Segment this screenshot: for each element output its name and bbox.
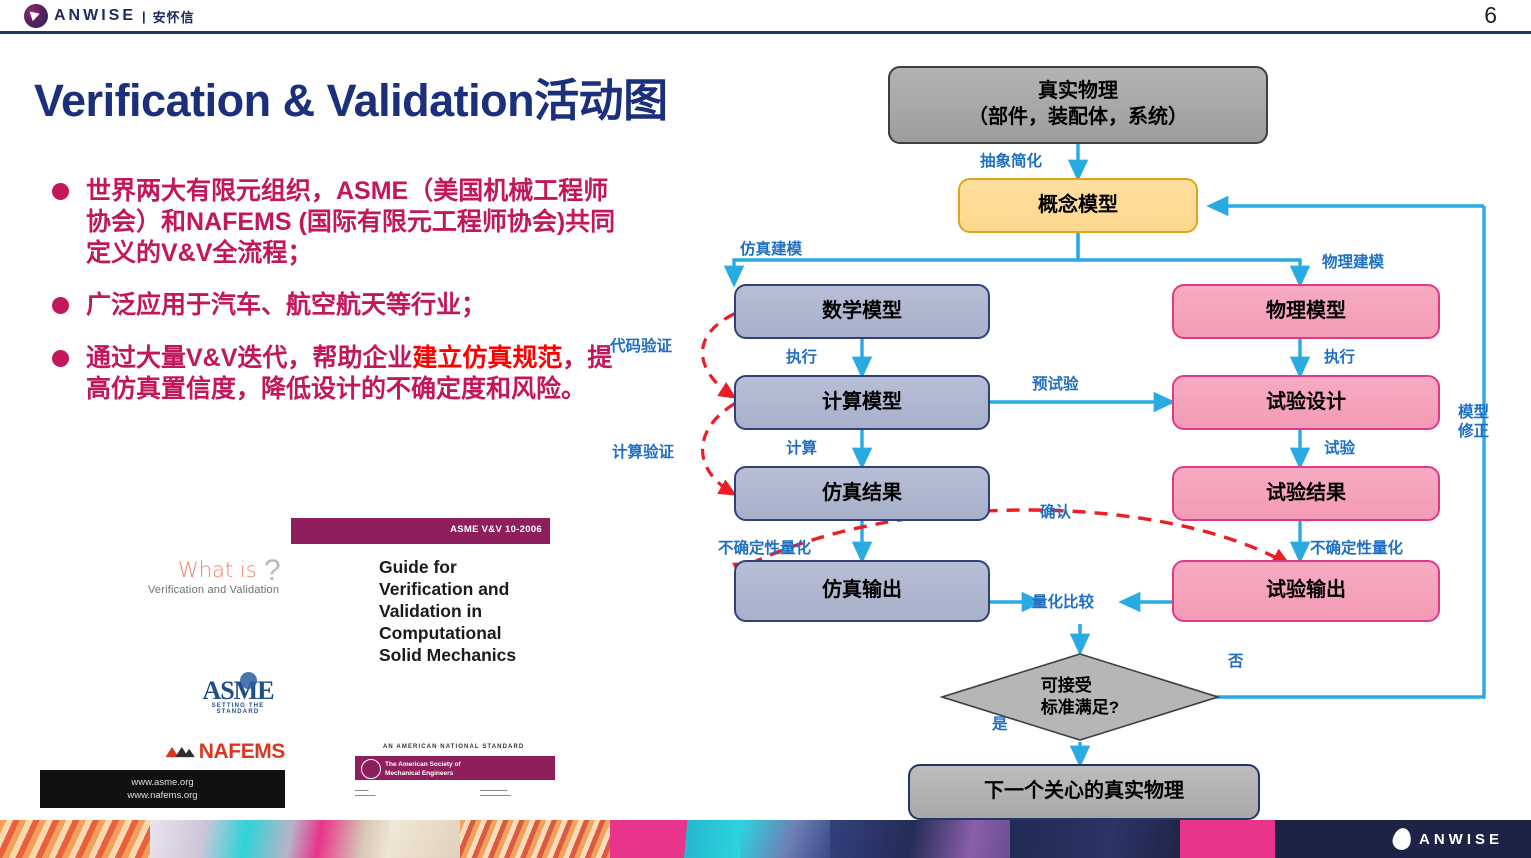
list-item: 广泛应用于汽车、航空航天等行业； — [52, 290, 622, 321]
anwise-footer-logo-icon — [1391, 826, 1413, 851]
edge-label-phys-modeling: 物理建模 — [1322, 250, 1384, 272]
nafems-logo: NAFEMS — [165, 737, 285, 767]
decision-label: 可接受 标准满足? — [940, 652, 1220, 742]
url-text: www.asme.org www.nafems.org — [40, 770, 285, 803]
edge-label-execute-right: 执行 — [1324, 345, 1355, 367]
edge-label-validate: 确认 — [1040, 500, 1071, 522]
footer-pattern-9 — [1180, 820, 1275, 858]
bullet-text: 世界两大有限元组织，ASME（美国机械工程师协会）和NAFEMS (国际有限元工… — [86, 176, 622, 268]
node-compute-model[interactable]: 计算模型 — [734, 375, 990, 430]
bullet-dot-icon — [52, 183, 69, 200]
node-test-result[interactable]: 试验结果 — [1172, 466, 1440, 521]
bullet-text: 通过大量V&V迭代，帮助企业建立仿真规范，提高仿真置信度，降低设计的不确定度和风… — [86, 343, 622, 405]
bullet-list: 世界两大有限元组织，ASME（美国机械工程师协会）和NAFEMS (国际有限元工… — [52, 176, 622, 427]
slide-canvas: ANWISE | 安怀信 6 Verification & Validation… — [0, 0, 1531, 858]
what-is-vv-graphic: What is ? Verification and Validation — [148, 558, 288, 602]
nafems-wordmark: NAFEMS — [199, 740, 285, 764]
anwise-logo: ANWISE | 安怀信 — [24, 4, 195, 28]
edge-label-quant-compare: 量化比较 — [1032, 590, 1094, 612]
brand-separator: | — [142, 9, 147, 24]
edge-label-calculate: 计算 — [786, 436, 817, 458]
edge-label-uq-right: 不确定性量化 — [1310, 536, 1403, 558]
edge-label-pretest: 预试验 — [1032, 372, 1079, 394]
list-item: 世界两大有限元组织，ASME（美国机械工程师协会）和NAFEMS (国际有限元工… — [52, 176, 622, 268]
node-sim-output[interactable]: 仿真输出 — [734, 560, 990, 622]
nafems-triangle-icon — [165, 739, 196, 765]
footer-brand-text: ANWISE — [1419, 831, 1503, 848]
anwise-logo-icon — [24, 4, 48, 28]
what-is-label: What is — [178, 558, 257, 582]
footer-pattern-6 — [740, 820, 830, 858]
slide-header: ANWISE | 安怀信 6 — [0, 0, 1531, 32]
footer-pattern-2 — [150, 820, 390, 858]
edge-label-execute-left: 执行 — [786, 345, 817, 367]
book-band: ASME V&V 10-2006 — [291, 518, 550, 544]
what-is-subtitle: Verification and Validation — [148, 584, 279, 596]
node-test-output[interactable]: 试验输出 — [1172, 560, 1440, 622]
ansi-footnote-left: ▬▬▬▬▬▬▬▬▬▬ — [355, 788, 375, 798]
edge-label-abstraction: 抽象简化 — [980, 149, 1042, 171]
bullet-dot-icon — [52, 350, 69, 367]
list-item: 通过大量V&V迭代，帮助企业建立仿真规范，提高仿真置信度，降低设计的不确定度和风… — [52, 343, 622, 405]
node-conceptual-model[interactable]: 概念模型 — [958, 178, 1198, 233]
book-title: Guide for Verification and Validation in… — [379, 556, 516, 666]
footer-pattern-5 — [610, 820, 740, 858]
node-next-physics[interactable]: 下一个关心的真实物理 — [908, 764, 1260, 820]
edge-label-model-update: 模型 修正 — [1458, 404, 1489, 441]
asme-wordmark: ASME — [196, 676, 280, 706]
asme-logo: ASME SETTING THE STANDARD — [196, 676, 280, 712]
edge-label-code-verification: 代码验证 — [610, 334, 672, 356]
edge-label-sim-modeling: 仿真建模 — [740, 237, 802, 259]
edge-label-uq-left: 不确定性量化 — [718, 536, 811, 558]
edge-label-test: 试验 — [1324, 436, 1355, 458]
brand-chinese: 安怀信 — [153, 7, 195, 26]
question-mark-icon: ? — [264, 554, 281, 588]
bullet-dot-icon — [52, 297, 69, 314]
header-divider — [0, 31, 1531, 34]
footer-pattern-4 — [460, 820, 610, 858]
node-physical-model[interactable]: 物理模型 — [1172, 284, 1440, 339]
url-bar: www.asme.org www.nafems.org — [40, 770, 285, 808]
node-decision[interactable]: 可接受 标准满足? — [940, 652, 1220, 742]
footer-brand: ANWISE — [1393, 828, 1503, 850]
page-number: 6 — [1484, 2, 1497, 29]
asme-society-name: The American Society of Mechanical Engin… — [385, 760, 461, 779]
ansi-header: AN AMERICAN NATIONAL STANDARD — [383, 744, 524, 750]
node-test-design[interactable]: 试验设计 — [1172, 375, 1440, 430]
vv-activity-flowchart: 真实物理 （部件，装配体，系统） 概念模型 数学模型 物理模型 计算模型 试验设… — [600, 52, 1531, 812]
brand-latin: ANWISE — [54, 7, 136, 25]
footer-pattern-1 — [0, 820, 150, 858]
node-math-model[interactable]: 数学模型 — [734, 284, 990, 339]
edge-label-calc-verification: 计算验证 — [612, 440, 674, 462]
bullet-highlight: 建立仿真规范 — [412, 344, 562, 372]
footer-pattern-8 — [1010, 820, 1180, 858]
edge-label-no: 否 — [1228, 649, 1244, 671]
ansi-standard-doc: AN AMERICAN NATIONAL STANDARD The Americ… — [355, 742, 555, 808]
node-real-physics[interactable]: 真实物理 （部件，装配体，系统） — [888, 66, 1268, 144]
asme-band: The American Society of Mechanical Engin… — [355, 756, 555, 780]
book-standard-code: ASME V&V 10-2006 — [450, 524, 542, 535]
footer-pattern-3 — [390, 820, 460, 858]
asme-seal-icon — [361, 759, 381, 779]
slide-footer: ANWISE — [0, 820, 1531, 858]
globe-icon — [240, 672, 257, 689]
bullet-text: 广泛应用于汽车、航空航天等行业； — [86, 290, 486, 321]
footer-pattern-7 — [830, 820, 1010, 858]
ansi-footnote-right: ▬▬▬▬▬▬▬▬▬▬▬▬▬▬▬▬▬ — [480, 788, 511, 798]
node-sim-result[interactable]: 仿真结果 — [734, 466, 990, 521]
edge-label-yes: 是 — [992, 712, 1008, 734]
page-title: Verification & Validation活动图 — [34, 64, 668, 129]
